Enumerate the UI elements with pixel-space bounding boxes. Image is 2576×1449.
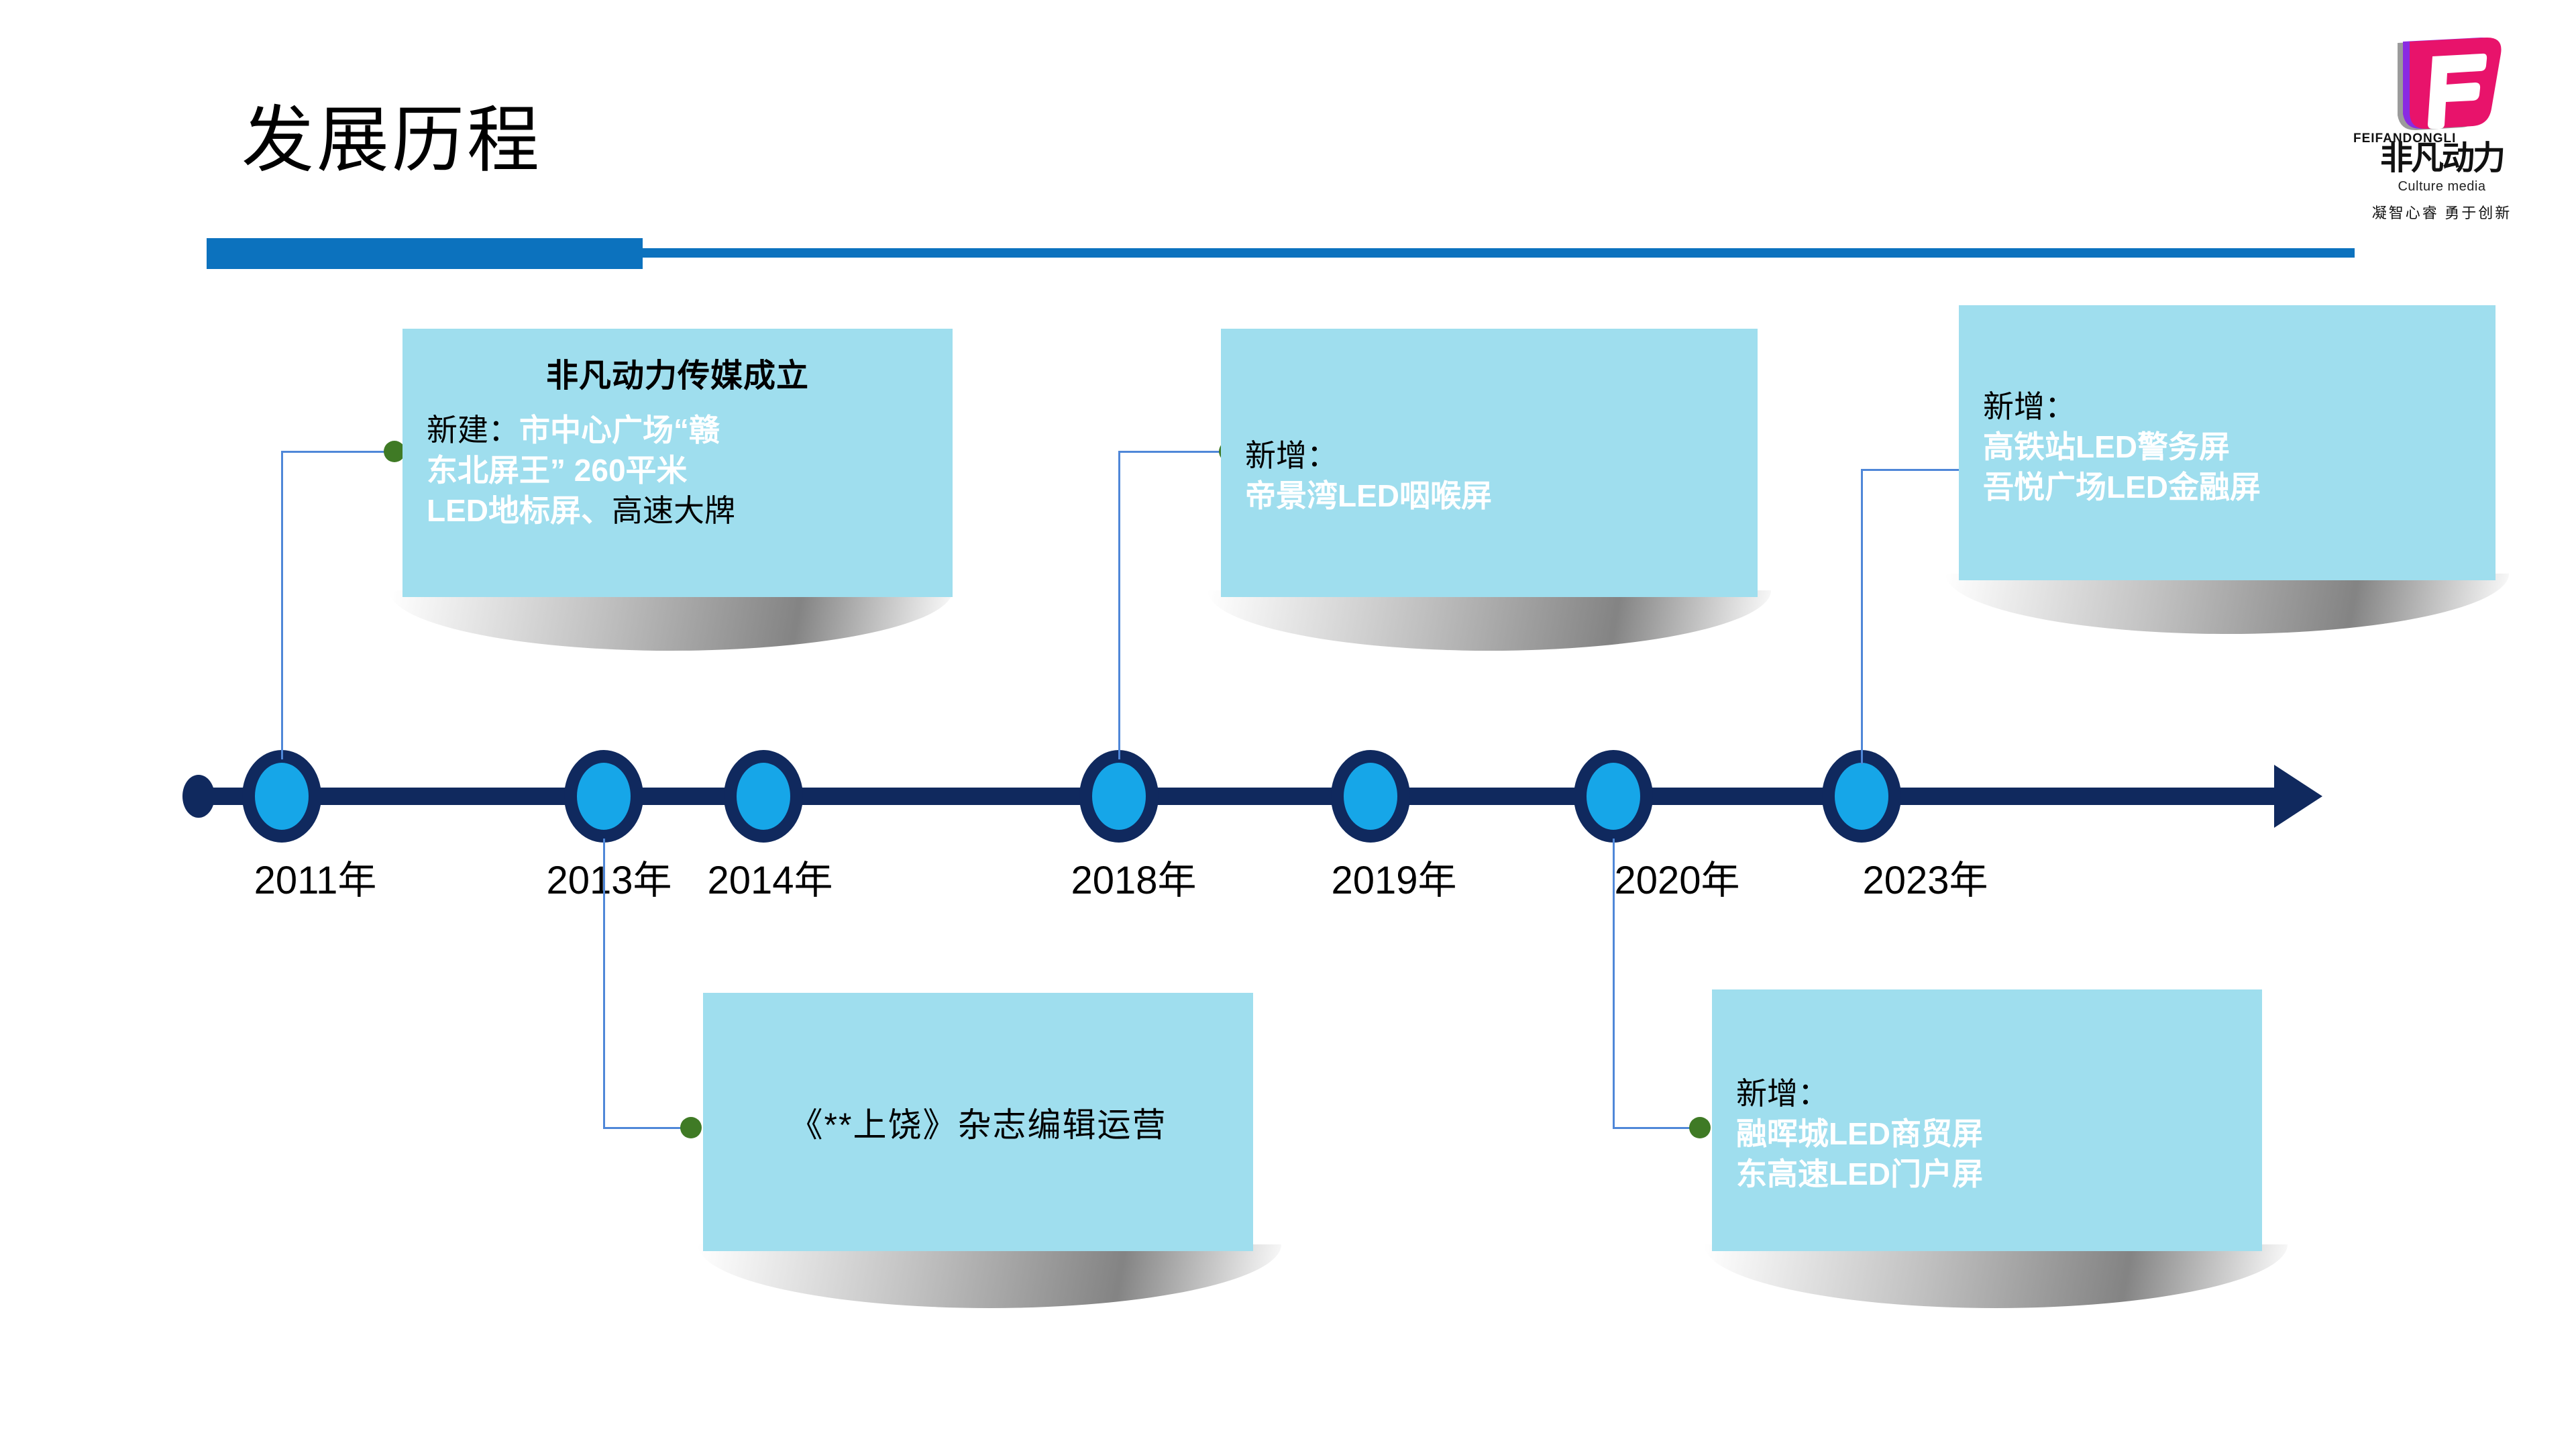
card-highlight-text: 东北屏王” 260平米: [427, 453, 688, 488]
card-shadow-2020: [1704, 1244, 2288, 1308]
node-inner-dot: [1835, 763, 1888, 830]
card-line: 融晖城LED商贸屏: [1736, 1114, 2238, 1155]
card-line: 新增：: [1245, 436, 1733, 476]
card-line: 新增：: [1736, 1074, 2238, 1114]
card-plain-text: 高速大牌: [612, 493, 735, 528]
year-label-2018: 2018年: [1071, 849, 1196, 905]
year-label-2020: 2020年: [1614, 849, 1739, 905]
connector-2023-horizontal: [1861, 469, 1968, 471]
card-line: 新增：: [1983, 387, 2471, 427]
card-line: 吾悦广场LED金融屏: [1983, 468, 2471, 508]
node-inner-dot: [1344, 763, 1397, 830]
connector-dot-2013: [680, 1117, 702, 1138]
year-label-2013: 2013年: [546, 849, 672, 905]
card-line: 东高速LED门户屏: [1736, 1155, 2238, 1195]
info-card-2020[interactable]: 新增： 融晖城LED商贸屏 东高速LED门户屏: [1712, 989, 2262, 1251]
card-highlight-text: LED地标屏、: [427, 493, 612, 528]
info-card-2018[interactable]: 新增： 帝景湾LED咽喉屏: [1221, 329, 1758, 597]
card-highlight-text: 高铁站LED警务屏: [1983, 429, 2230, 464]
logo-f-mark-icon: [2375, 27, 2509, 134]
card-shadow-2011: [389, 590, 953, 651]
card-line: 东北屏王” 260平米: [427, 451, 928, 491]
timeline-node-2018[interactable]: [1079, 750, 1159, 843]
connector-2011-vertical: [281, 451, 283, 759]
card-shadow-2018: [1207, 590, 1771, 651]
card-highlight-text: 吾悦广场LED金融屏: [1983, 470, 2261, 504]
node-inner-dot: [737, 763, 790, 830]
year-label-2014: 2014年: [707, 849, 833, 905]
timeline-arrow-icon: [2274, 765, 2322, 828]
node-inner-dot: [1092, 763, 1146, 830]
card-text-2013: 《**上饶》杂志编辑运营: [790, 1098, 1167, 1146]
connector-2020-vertical: [1613, 839, 1615, 1128]
card-body-2023: 新增： 高铁站LED警务屏 吾悦广场LED金融屏: [1983, 387, 2471, 507]
timeline-axis: [201, 788, 2294, 805]
card-body-2020: 新增： 融晖城LED商贸屏 东高速LED门户屏: [1736, 1074, 2238, 1194]
card-line: LED地标屏、高速大牌: [427, 491, 928, 531]
connector-2013-vertical: [603, 839, 605, 1128]
card-highlight-text: 东高速LED门户屏: [1736, 1157, 1983, 1191]
node-inner-dot: [577, 763, 631, 830]
card-highlight-text: 帝景湾LED咽喉屏: [1245, 478, 1492, 513]
card-lead-text: 新建：: [427, 413, 519, 447]
timeline-node-2013[interactable]: [564, 750, 643, 843]
connector-2018-horizontal: [1118, 451, 1226, 453]
title-accent-bar: [207, 238, 643, 269]
info-card-2013[interactable]: 《**上饶》杂志编辑运营: [703, 993, 1253, 1251]
connector-dot-2020: [1689, 1117, 1711, 1138]
card-lead-text: 新增：: [1245, 438, 1338, 473]
node-inner-dot: [1587, 763, 1640, 830]
card-body-2011: 新建：市中心广场“赣 东北屏王” 260平米 LED地标屏、高速大牌: [427, 411, 928, 531]
card-shadow-2013: [698, 1244, 1281, 1308]
year-label-2019: 2019年: [1331, 849, 1456, 905]
year-label-2023: 2023年: [1862, 849, 1988, 905]
card-title-2011: 非凡动力传媒成立: [427, 349, 928, 396]
card-lead-text: 新增：: [1983, 389, 2076, 424]
logo-slogan: 凝智心睿 勇于创新: [2341, 201, 2542, 223]
card-line: 高铁站LED警务屏: [1983, 427, 2471, 468]
info-card-2011[interactable]: 非凡动力传媒成立 新建：市中心广场“赣 东北屏王” 260平米 LED地标屏、高…: [402, 329, 953, 597]
page-title: 发展历程: [241, 101, 542, 180]
card-highlight-text: 融晖城LED商贸屏: [1736, 1116, 1983, 1151]
logo-name-en: Culture media: [2341, 179, 2542, 195]
timeline-node-2014[interactable]: [724, 750, 803, 843]
timeline-node-2011[interactable]: [242, 750, 321, 843]
connector-2011-horizontal: [281, 451, 388, 453]
connector-2013-horizontal: [603, 1127, 690, 1129]
year-label-2011: 2011年: [254, 849, 377, 905]
logo-name-cn: 非凡动力: [2341, 142, 2542, 175]
card-lead-text: 新增：: [1736, 1076, 1829, 1111]
card-line: 帝景湾LED咽喉屏: [1245, 476, 1733, 517]
card-highlight-text: 市中心广场“赣: [519, 413, 720, 447]
card-body-2018: 新增： 帝景湾LED咽喉屏: [1245, 436, 1733, 517]
timeline-node-2019[interactable]: [1331, 750, 1410, 843]
title-accent-rule: [637, 248, 2355, 258]
node-inner-dot: [255, 763, 309, 830]
timeline-node-2020[interactable]: [1574, 750, 1653, 843]
connector-2020-horizontal: [1613, 1127, 1700, 1129]
info-card-2023[interactable]: 新增： 高铁站LED警务屏 吾悦广场LED金融屏: [1959, 305, 2495, 580]
company-logo: FEIFANDONGLI 非凡动力 Culture media 凝智心睿 勇于创…: [2341, 27, 2542, 221]
card-shadow-2023: [1945, 574, 2509, 634]
connector-2023-vertical: [1861, 469, 1863, 764]
connector-2018-vertical: [1118, 451, 1120, 759]
card-line: 新建：市中心广场“赣: [427, 411, 928, 451]
